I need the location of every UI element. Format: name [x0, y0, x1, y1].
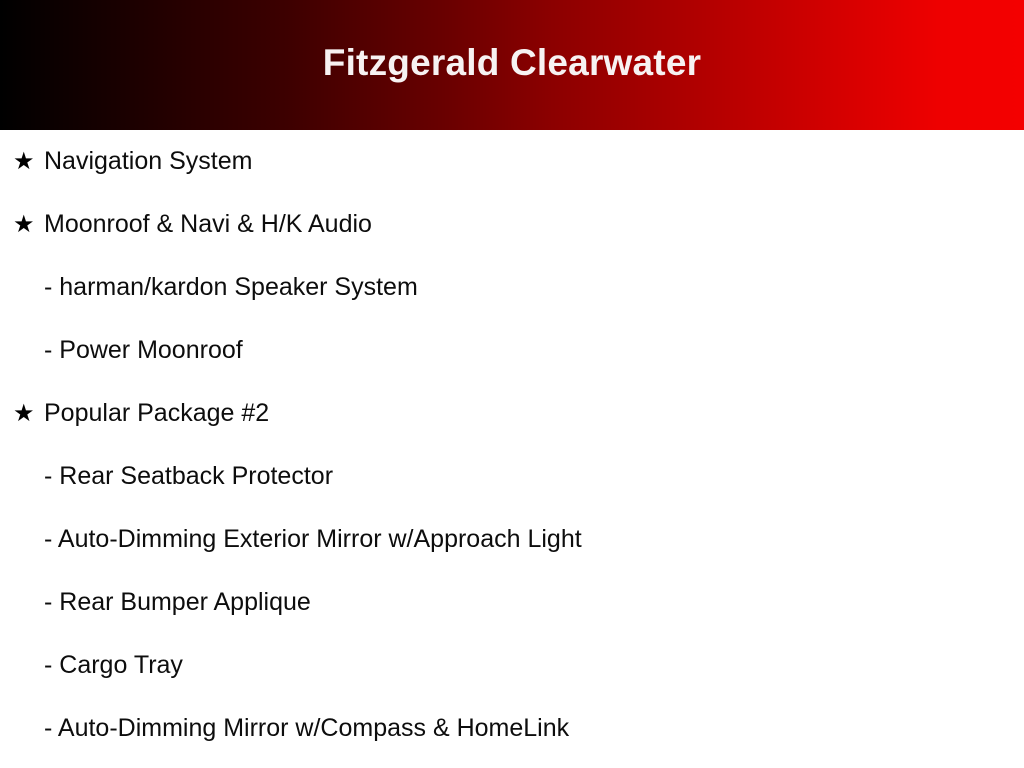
sub-bullet-item: - Rear Bumper Applique	[0, 571, 1024, 634]
sub-bullet-item: - Auto-Dimming Exterior Mirror w/Approac…	[0, 508, 1024, 571]
sub-bullet-item-label: - Rear Seatback Protector	[44, 445, 333, 508]
sub-bullet-item-label: - harman/kardon Speaker System	[44, 256, 418, 319]
sub-bullet-item-label: - Cargo Tray	[44, 634, 183, 697]
sub-bullet-item: - Auto-Dimming Mirror w/Compass & HomeLi…	[0, 697, 1024, 760]
bullet-item: ★Moonroof & Navi & H/K Audio	[0, 193, 1024, 256]
star-bullet-icon: ★	[13, 193, 37, 256]
sub-bullet-item-label: - Rear Bumper Applique	[44, 571, 311, 634]
sub-bullet-item: - harman/kardon Speaker System	[0, 256, 1024, 319]
slide-title: Fitzgerald Clearwater	[0, 0, 1024, 130]
bullet-item-label: Moonroof & Navi & H/K Audio	[44, 193, 372, 256]
star-bullet-icon: ★	[13, 130, 37, 193]
bullet-item: ★Popular Package #2	[0, 382, 1024, 445]
title-banner: Fitzgerald Clearwater	[0, 0, 1024, 130]
sub-bullet-item: - Cargo Tray	[0, 634, 1024, 697]
bullet-list: ★Navigation System★Moonroof & Navi & H/K…	[0, 130, 1024, 768]
bullet-item-label: Navigation System	[44, 130, 252, 193]
bullet-item: ★Navigation System	[0, 130, 1024, 193]
sub-bullet-item-label: - Auto-Dimming Mirror w/Compass & HomeLi…	[44, 697, 569, 760]
star-bullet-icon: ★	[13, 382, 37, 445]
sub-bullet-item-label: - Power Moonroof	[44, 319, 243, 382]
sub-bullet-item: - Power Moonroof	[0, 319, 1024, 382]
sub-bullet-item: - Rear Seatback Protector	[0, 445, 1024, 508]
slide-canvas: Fitzgerald Clearwater ★Navigation System…	[0, 0, 1024, 768]
bullet-item-label: Popular Package #2	[44, 382, 269, 445]
sub-bullet-item-label: - Auto-Dimming Exterior Mirror w/Approac…	[44, 508, 582, 571]
